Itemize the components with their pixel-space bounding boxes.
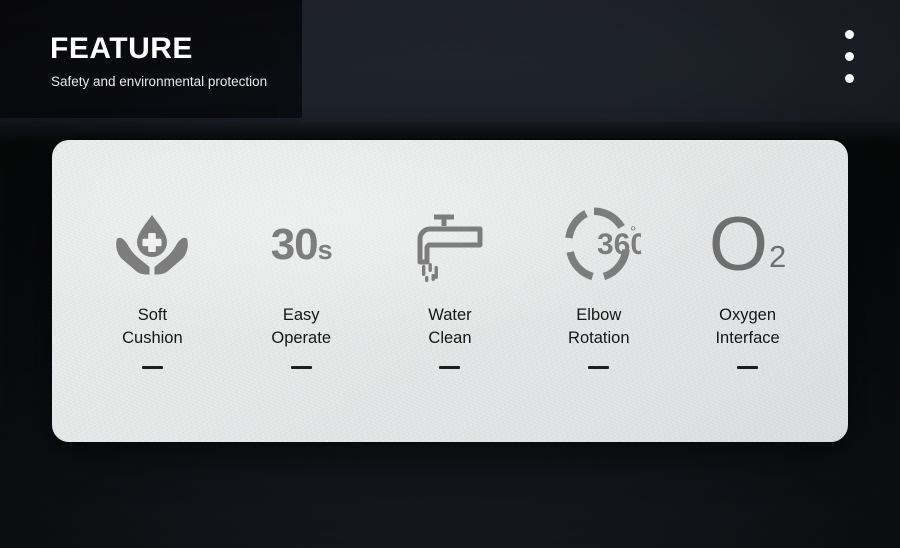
feature-label-line1: Oxygen xyxy=(719,306,776,324)
oxygen-symbol: O xyxy=(709,215,766,274)
feature-label-line2: Cushion xyxy=(122,329,183,347)
features-card: Soft Cushion 30s Easy Operate xyxy=(52,140,848,442)
feature-label-line1: Easy xyxy=(283,306,320,324)
feature-banner: FEATURE Safety and environmental protect… xyxy=(0,0,900,548)
duration-value: 30 xyxy=(271,220,318,269)
feature-label-line1: Water xyxy=(428,306,471,324)
dot-icon xyxy=(845,74,854,83)
feature-item-water-clean[interactable]: Water Clean xyxy=(376,202,525,369)
360-degree-rotation-ring-icon: 360 ° xyxy=(557,206,641,284)
dot-icon xyxy=(845,52,854,61)
thirty-seconds-text-icon: 30s xyxy=(271,223,332,267)
degree-symbol: ° xyxy=(630,224,636,241)
duration-unit: s xyxy=(318,235,332,265)
feature-icon-slot xyxy=(410,202,490,288)
feature-underline xyxy=(588,366,609,369)
feature-icon-slot xyxy=(113,202,191,288)
page-subtitle: Safety and environmental protection xyxy=(51,72,267,92)
feature-underline xyxy=(142,366,163,369)
feature-icon-slot: 30s xyxy=(271,202,332,288)
feature-label-line2: Rotation xyxy=(568,329,629,347)
feature-label-line1: Elbow xyxy=(576,306,621,324)
feature-label-line2: Clean xyxy=(428,329,471,347)
feature-label: Easy Operate xyxy=(271,304,331,350)
feature-label-line2: Interface xyxy=(715,329,779,347)
feature-item-easy-operate[interactable]: 30s Easy Operate xyxy=(227,202,376,369)
feature-label: Elbow Rotation xyxy=(568,304,629,350)
feature-label: Soft Cushion xyxy=(122,304,183,350)
feature-label-line1: Soft xyxy=(138,306,167,324)
feature-underline xyxy=(291,366,312,369)
feature-icon-slot: O 2 xyxy=(709,202,786,288)
dot-icon xyxy=(845,30,854,39)
header-text-block: FEATURE Safety and environmental protect… xyxy=(50,32,267,92)
feature-icon-slot: 360 ° xyxy=(557,202,641,288)
more-options-menu-button[interactable] xyxy=(845,30,854,83)
feature-label: Water Clean xyxy=(428,304,471,350)
page-title: FEATURE xyxy=(50,32,267,66)
feature-item-soft-cushion[interactable]: Soft Cushion xyxy=(78,202,227,369)
hands-holding-droplet-cross-icon xyxy=(113,209,191,281)
feature-underline xyxy=(439,366,460,369)
feature-underline xyxy=(737,366,758,369)
faucet-water-drip-icon xyxy=(410,205,490,285)
feature-label: Oxygen Interface xyxy=(715,304,779,350)
oxygen-subscript: 2 xyxy=(769,241,786,272)
oxygen-o2-icon: O 2 xyxy=(709,215,786,274)
feature-item-elbow-rotation[interactable]: 360 ° Elbow Rotation xyxy=(524,202,673,369)
feature-list: Soft Cushion 30s Easy Operate xyxy=(52,140,848,442)
feature-item-oxygen-interface[interactable]: O 2 Oxygen Interface xyxy=(673,202,822,369)
feature-label-line2: Operate xyxy=(271,329,331,347)
